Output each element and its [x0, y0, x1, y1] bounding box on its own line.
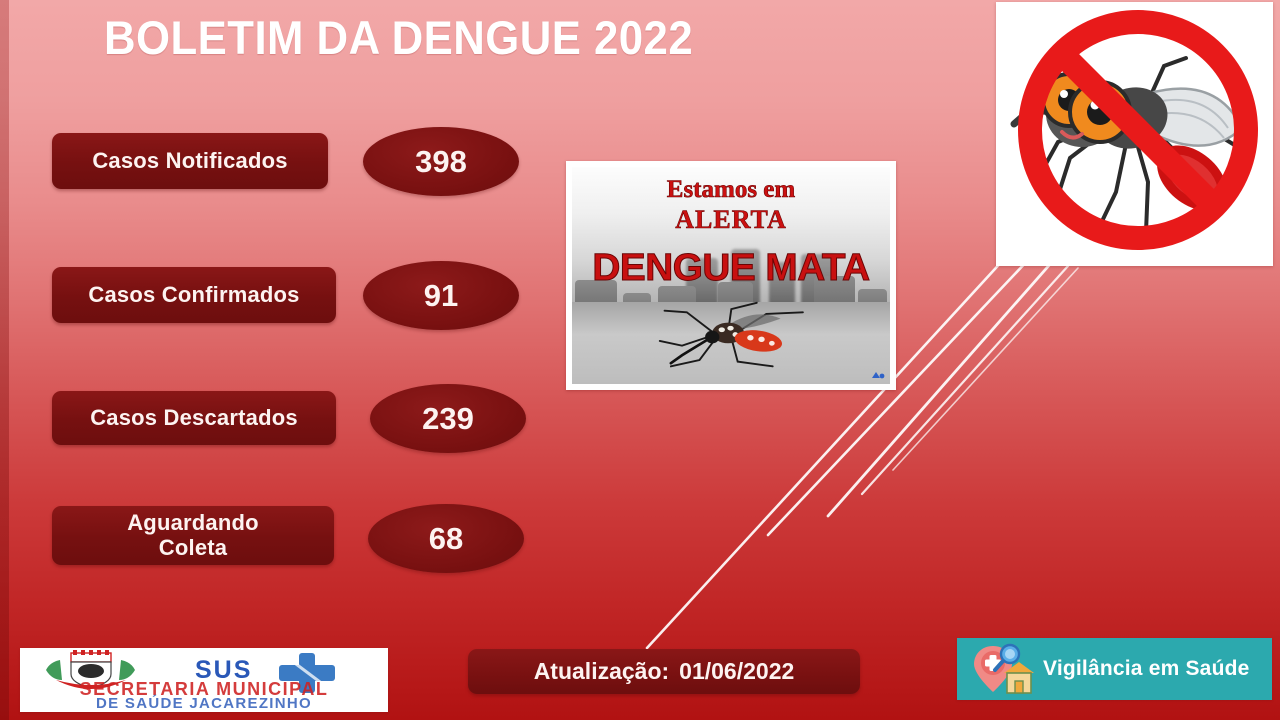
update-label: Atualização: [534, 658, 669, 685]
alert-line-2: ALERTA [572, 205, 890, 235]
alert-line-1: Estamos em [572, 176, 890, 204]
update-date: 01/06/2022 [679, 658, 794, 685]
stat-value-aguardando-coleta: 68 [368, 504, 524, 573]
alert-line-3: DENGUE MATA [572, 247, 890, 290]
vigilancia-em-saude-badge: Vigilância em Saúde [957, 638, 1272, 700]
cemetery-scene: Estamos em ALERTA DENGUE MATA [572, 167, 890, 384]
health-surveillance-icon [973, 642, 1035, 696]
stat-value-casos-descartados: 239 [370, 384, 526, 453]
vigilancia-label: Vigilância em Saúde [1043, 657, 1250, 681]
dengue-bulletin-slide: BOLETIM DA DENGUE 2022 Casos Notificados… [0, 0, 1280, 720]
stat-label-line-2: Coleta [159, 536, 227, 561]
stat-label-line-1: Aguardando [127, 511, 259, 536]
stat-label-casos-descartados: Casos Descartados [52, 391, 336, 445]
secretaria-municipal-logo: SUS SECRETARIA MUNICIPAL DE SAÚDE JACARE… [20, 648, 388, 712]
no-mosquito-icon [996, 2, 1273, 266]
page-title: BOLETIM DA DENGUE 2022 [104, 10, 693, 65]
update-bar: Atualização: 01/06/2022 [468, 649, 860, 694]
no-mosquito-sign [996, 2, 1273, 266]
stat-value-casos-confirmados: 91 [363, 261, 519, 330]
watermark-icon [870, 369, 886, 381]
stat-value-casos-notificados: 398 [363, 127, 519, 196]
stat-label-casos-notificados: Casos Notificados [52, 133, 328, 189]
stat-label-casos-confirmados: Casos Confirmados [52, 267, 336, 323]
mosquito-photo-icon [655, 289, 814, 380]
alert-photo: Estamos em ALERTA DENGUE MATA [566, 161, 896, 390]
sms-line-2: DE SAÚDE JACAREZINHO [20, 695, 388, 712]
stat-label-aguardando-coleta: Aguardando Coleta [52, 506, 334, 565]
